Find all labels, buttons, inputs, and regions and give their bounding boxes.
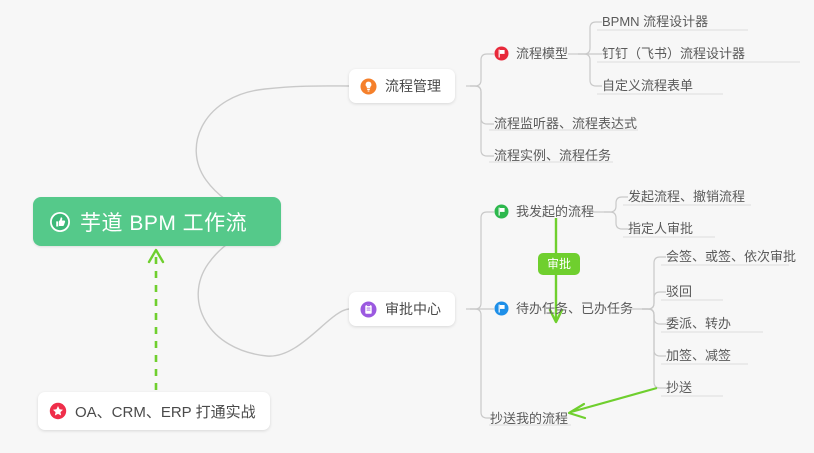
node-process-listener-expression[interactable]: 流程监听器、流程表达式: [494, 114, 637, 136]
link-todo-to-addsign: [642, 309, 666, 356]
node-delegate-transfer[interactable]: 委派、转办: [666, 314, 731, 336]
node-process-instance-task[interactable]: 流程实例、流程任务: [494, 146, 611, 168]
node-label-assignee-approval: 指定人审批: [628, 221, 693, 236]
link-pm-to-process-model: [470, 54, 494, 86]
node-label-add-remove-sign: 加签、减签: [666, 348, 731, 363]
lightbulb-pin-icon: [360, 78, 377, 95]
flag-icon: [494, 301, 509, 316]
link-pm-to-instance: [470, 86, 494, 156]
footer-node-label: OA、CRM、ERP 打通实战: [75, 401, 256, 422]
node-reject[interactable]: 驳回: [666, 282, 692, 304]
link-pm-to-listener: [470, 86, 494, 124]
node-my-initiated-process[interactable]: 我发起的流程: [494, 202, 594, 224]
link-todo-to-reject: [642, 292, 666, 309]
node-add-remove-sign[interactable]: 加签、减签: [666, 346, 731, 368]
node-todo-done-tasks[interactable]: 待办任务、已办任务: [494, 299, 633, 321]
node-label-dingtalk-feishu-designer: 钉钉（飞书）流程设计器: [602, 46, 745, 61]
star-icon: [49, 402, 67, 420]
node-dingtalk-feishu-designer[interactable]: 钉钉（飞书）流程设计器: [602, 44, 745, 66]
node-cc-to-me-process[interactable]: 抄送我的流程: [490, 409, 568, 431]
node-label-process-listener-expression: 流程监听器、流程表达式: [494, 116, 637, 131]
node-label-todo-done-tasks: 待办任务、已办任务: [516, 299, 633, 318]
footer-node-integration-practice[interactable]: OA、CRM、ERP 打通实战: [38, 392, 270, 430]
cc-link-arrow-line: [571, 388, 657, 412]
link-todo-to-countersign: [642, 257, 666, 309]
flag-icon: [494, 204, 509, 219]
link-model-to-custom-form: [578, 54, 602, 86]
cc-link-arrowhead: [569, 404, 585, 418]
flag-icon: [494, 46, 509, 61]
node-label-cc: 抄送: [666, 380, 692, 395]
approval-badge[interactable]: 审批: [538, 253, 580, 275]
node-process-model[interactable]: 流程模型: [494, 44, 568, 66]
node-custom-process-form[interactable]: 自定义流程表单: [602, 76, 693, 98]
thumbs-up-icon: [49, 211, 71, 233]
root-node[interactable]: 芋道 BPM 工作流: [33, 197, 281, 246]
mindmap-canvas: 芋道 BPM 工作流 流程管理 审批中心: [0, 0, 814, 453]
node-bpmn-designer[interactable]: BPMN 流程设计器: [602, 12, 708, 34]
branch-node-process-management[interactable]: 流程管理: [349, 69, 455, 103]
node-label-start-cancel-process: 发起流程、撤销流程: [628, 189, 745, 204]
link-model-to-bpmn: [578, 22, 602, 54]
integration-arrowhead: [149, 250, 163, 262]
node-label-process-model: 流程模型: [516, 44, 568, 63]
node-countersign-or-sequential[interactable]: 会签、或签、依次审批: [666, 247, 796, 269]
node-label-countersign-or-sequential: 会签、或签、依次审批: [666, 249, 796, 264]
node-start-cancel-process[interactable]: 发起流程、撤销流程: [628, 187, 745, 209]
link-todo-to-delegate: [642, 309, 666, 324]
clipboard-icon: [360, 301, 377, 318]
root-node-label: 芋道 BPM 工作流: [80, 207, 247, 237]
link-todo-to-cc: [642, 309, 666, 388]
branch-label-process-management: 流程管理: [385, 76, 441, 96]
link-ac-to-ccme: [470, 309, 494, 418]
node-label-reject: 驳回: [666, 284, 692, 299]
link-initiated-to-assignee: [604, 212, 628, 229]
node-label-cc-to-me-process: 抄送我的流程: [490, 411, 568, 426]
node-label-process-instance-task: 流程实例、流程任务: [494, 148, 611, 163]
node-label-custom-process-form: 自定义流程表单: [602, 78, 693, 93]
branch-node-approval-center[interactable]: 审批中心: [349, 292, 455, 326]
node-label-my-initiated-process: 我发起的流程: [516, 202, 594, 221]
approval-badge-label: 审批: [547, 257, 571, 271]
node-label-bpmn-designer: BPMN 流程设计器: [602, 14, 708, 29]
link-ac-to-initiated: [470, 212, 494, 309]
node-cc[interactable]: 抄送: [666, 378, 692, 400]
branch-label-approval-center: 审批中心: [385, 299, 441, 319]
node-assignee-approval[interactable]: 指定人审批: [628, 219, 693, 241]
node-label-delegate-transfer: 委派、转办: [666, 316, 731, 331]
link-initiated-to-start: [604, 197, 628, 212]
